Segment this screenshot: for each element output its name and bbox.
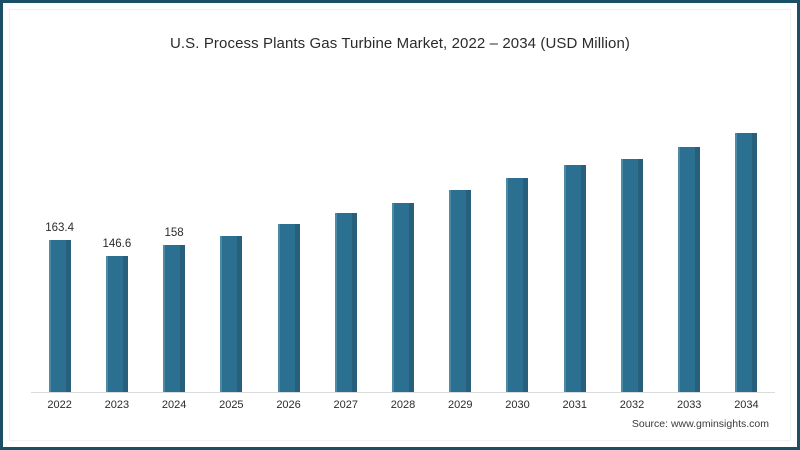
bar[interactable] xyxy=(621,159,643,392)
x-axis-tick-label: 2022 xyxy=(31,399,88,411)
x-axis-tick-label: 2025 xyxy=(203,399,260,411)
bar-group: 146.6 xyxy=(88,113,145,392)
bar[interactable] xyxy=(564,165,586,392)
bar[interactable] xyxy=(506,178,528,392)
bar-value-label: 146.6 xyxy=(102,238,131,250)
chart-container: U.S. Process Plants Gas Turbine Market, … xyxy=(0,0,800,450)
bar-group xyxy=(546,113,603,392)
source-attribution: Source: www.gminsights.com xyxy=(632,418,769,430)
bar-value-label: 163.4 xyxy=(45,222,74,234)
bar-group xyxy=(661,113,718,392)
x-axis-tick-label: 2033 xyxy=(661,399,718,411)
bar-group: 163.4 xyxy=(31,113,88,392)
x-axis-tick-label: 2031 xyxy=(546,399,603,411)
bar[interactable] xyxy=(49,240,71,392)
bar-group xyxy=(317,113,374,392)
bar-value-label: 158 xyxy=(164,227,183,239)
x-axis-tick-label: 2030 xyxy=(489,399,546,411)
x-axis-tick-label: 2023 xyxy=(88,399,145,411)
bar-group xyxy=(374,113,431,392)
bar[interactable] xyxy=(392,203,414,392)
bar-group: 158 xyxy=(145,113,202,392)
chart-title: U.S. Process Plants Gas Turbine Market, … xyxy=(3,35,797,52)
bar-group xyxy=(432,113,489,392)
bar[interactable] xyxy=(106,256,128,392)
bar-series-group: 163.4146.6158 xyxy=(31,113,775,392)
bar[interactable] xyxy=(335,213,357,392)
x-axis-tick-label: 2028 xyxy=(374,399,431,411)
bar-group xyxy=(489,113,546,392)
bar-group xyxy=(603,113,660,392)
x-axis-line xyxy=(31,392,775,393)
bar[interactable] xyxy=(220,236,242,392)
bar[interactable] xyxy=(278,224,300,392)
bar-group xyxy=(718,113,775,392)
x-axis-tick-label: 2026 xyxy=(260,399,317,411)
bar[interactable] xyxy=(735,133,757,392)
bar[interactable] xyxy=(449,190,471,392)
x-axis-tick-label: 2034 xyxy=(718,399,775,411)
bar[interactable] xyxy=(678,147,700,392)
x-axis-tick-label: 2027 xyxy=(317,399,374,411)
x-axis-tick-label: 2024 xyxy=(145,399,202,411)
bar-group xyxy=(260,113,317,392)
x-axis-tick-label: 2032 xyxy=(603,399,660,411)
x-axis-tick-labels: 2022202320242025202620272028202920302031… xyxy=(31,399,775,411)
bar[interactable] xyxy=(163,245,185,392)
x-axis-tick-label: 2029 xyxy=(432,399,489,411)
bar-group xyxy=(203,113,260,392)
